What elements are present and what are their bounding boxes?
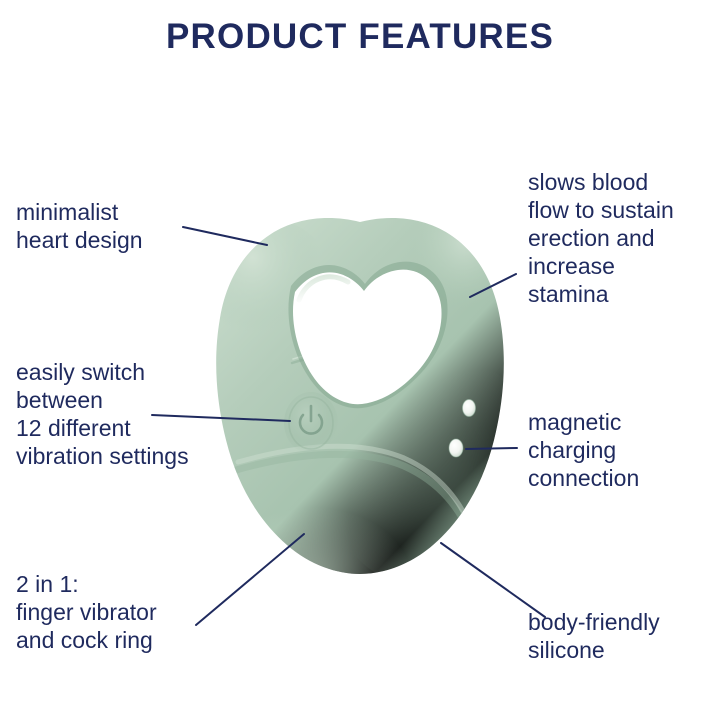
charging-contact-upper: [463, 400, 476, 417]
leader-line-silicone: [441, 543, 545, 617]
power-button-well[interactable]: [284, 392, 338, 454]
product-features-infographic: PRODUCT FEATURES: [0, 0, 720, 720]
callout-minimalist-heart-design: minimalist heart design: [16, 198, 246, 254]
callout-magnetic-charging: magnetic charging connection: [528, 408, 718, 492]
callout-slows-blood-flow: slows blood flow to sustain erection and…: [528, 168, 718, 308]
callout-two-in-one: 2 in 1: finger vibrator and cock ring: [16, 570, 256, 654]
callout-body-friendly-silicone: body-friendly silicone: [528, 608, 718, 664]
power-button[interactable]: [284, 392, 338, 454]
charging-contact-lower: [449, 439, 463, 457]
callout-vibration-settings: easily switch between 12 different vibra…: [16, 358, 266, 470]
leader-line-charging: [466, 448, 517, 449]
